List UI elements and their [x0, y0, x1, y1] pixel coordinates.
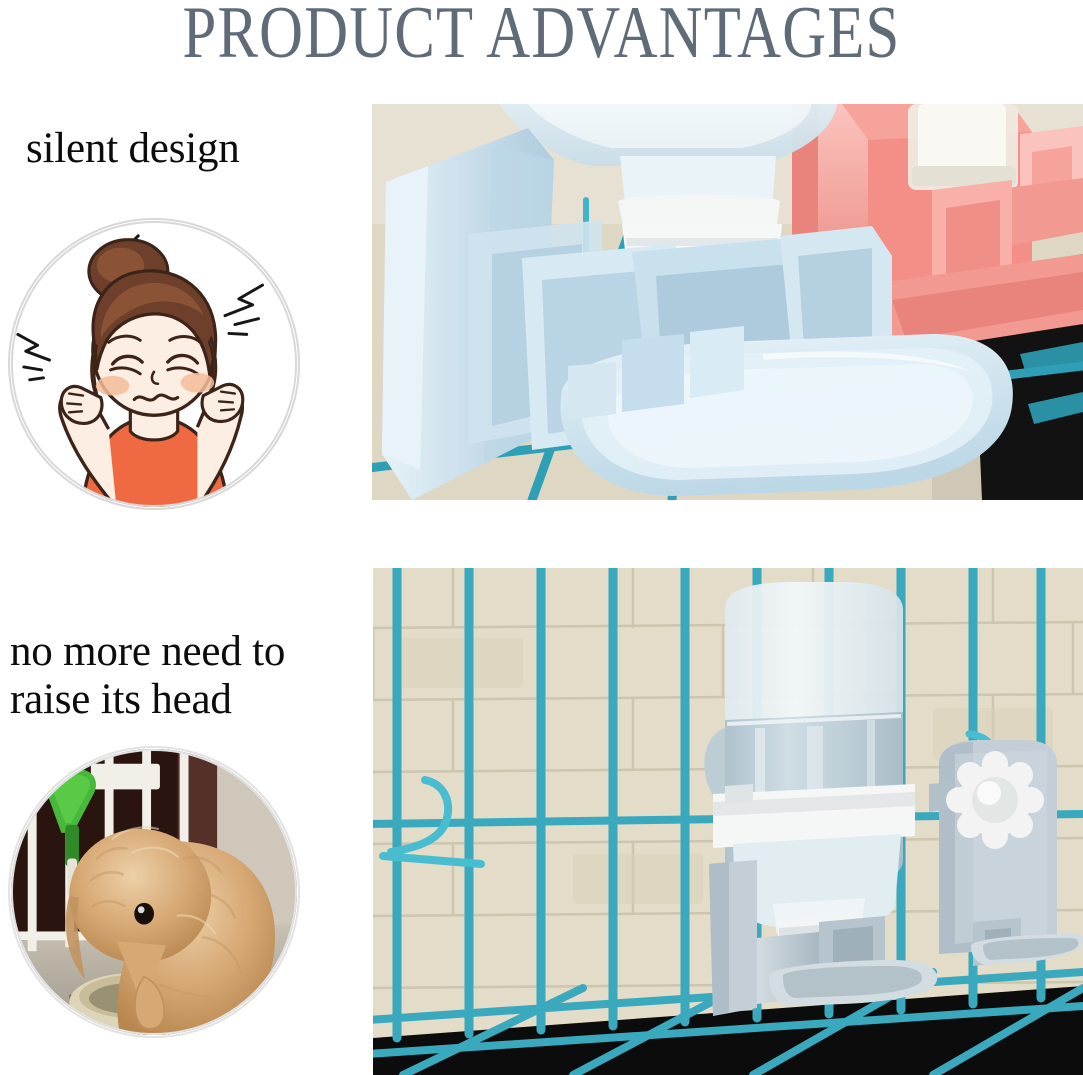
feature-label-no-raise-head: no more need to raise its head	[10, 628, 285, 724]
cage-mounted-dispenser-photo	[373, 568, 1083, 1075]
noise-annoyed-woman-illustration	[8, 218, 300, 510]
dispenser-closeup-photo	[372, 104, 1083, 500]
puppy-drinking-photo	[8, 746, 300, 1038]
page-title: PRODUCT ADVANTAGES	[97, 0, 985, 70]
feature-label-line2: raise its head	[10, 676, 285, 724]
feature-label-line1: no more need to	[10, 628, 285, 676]
feature-label-silent-design: silent design	[26, 125, 240, 173]
